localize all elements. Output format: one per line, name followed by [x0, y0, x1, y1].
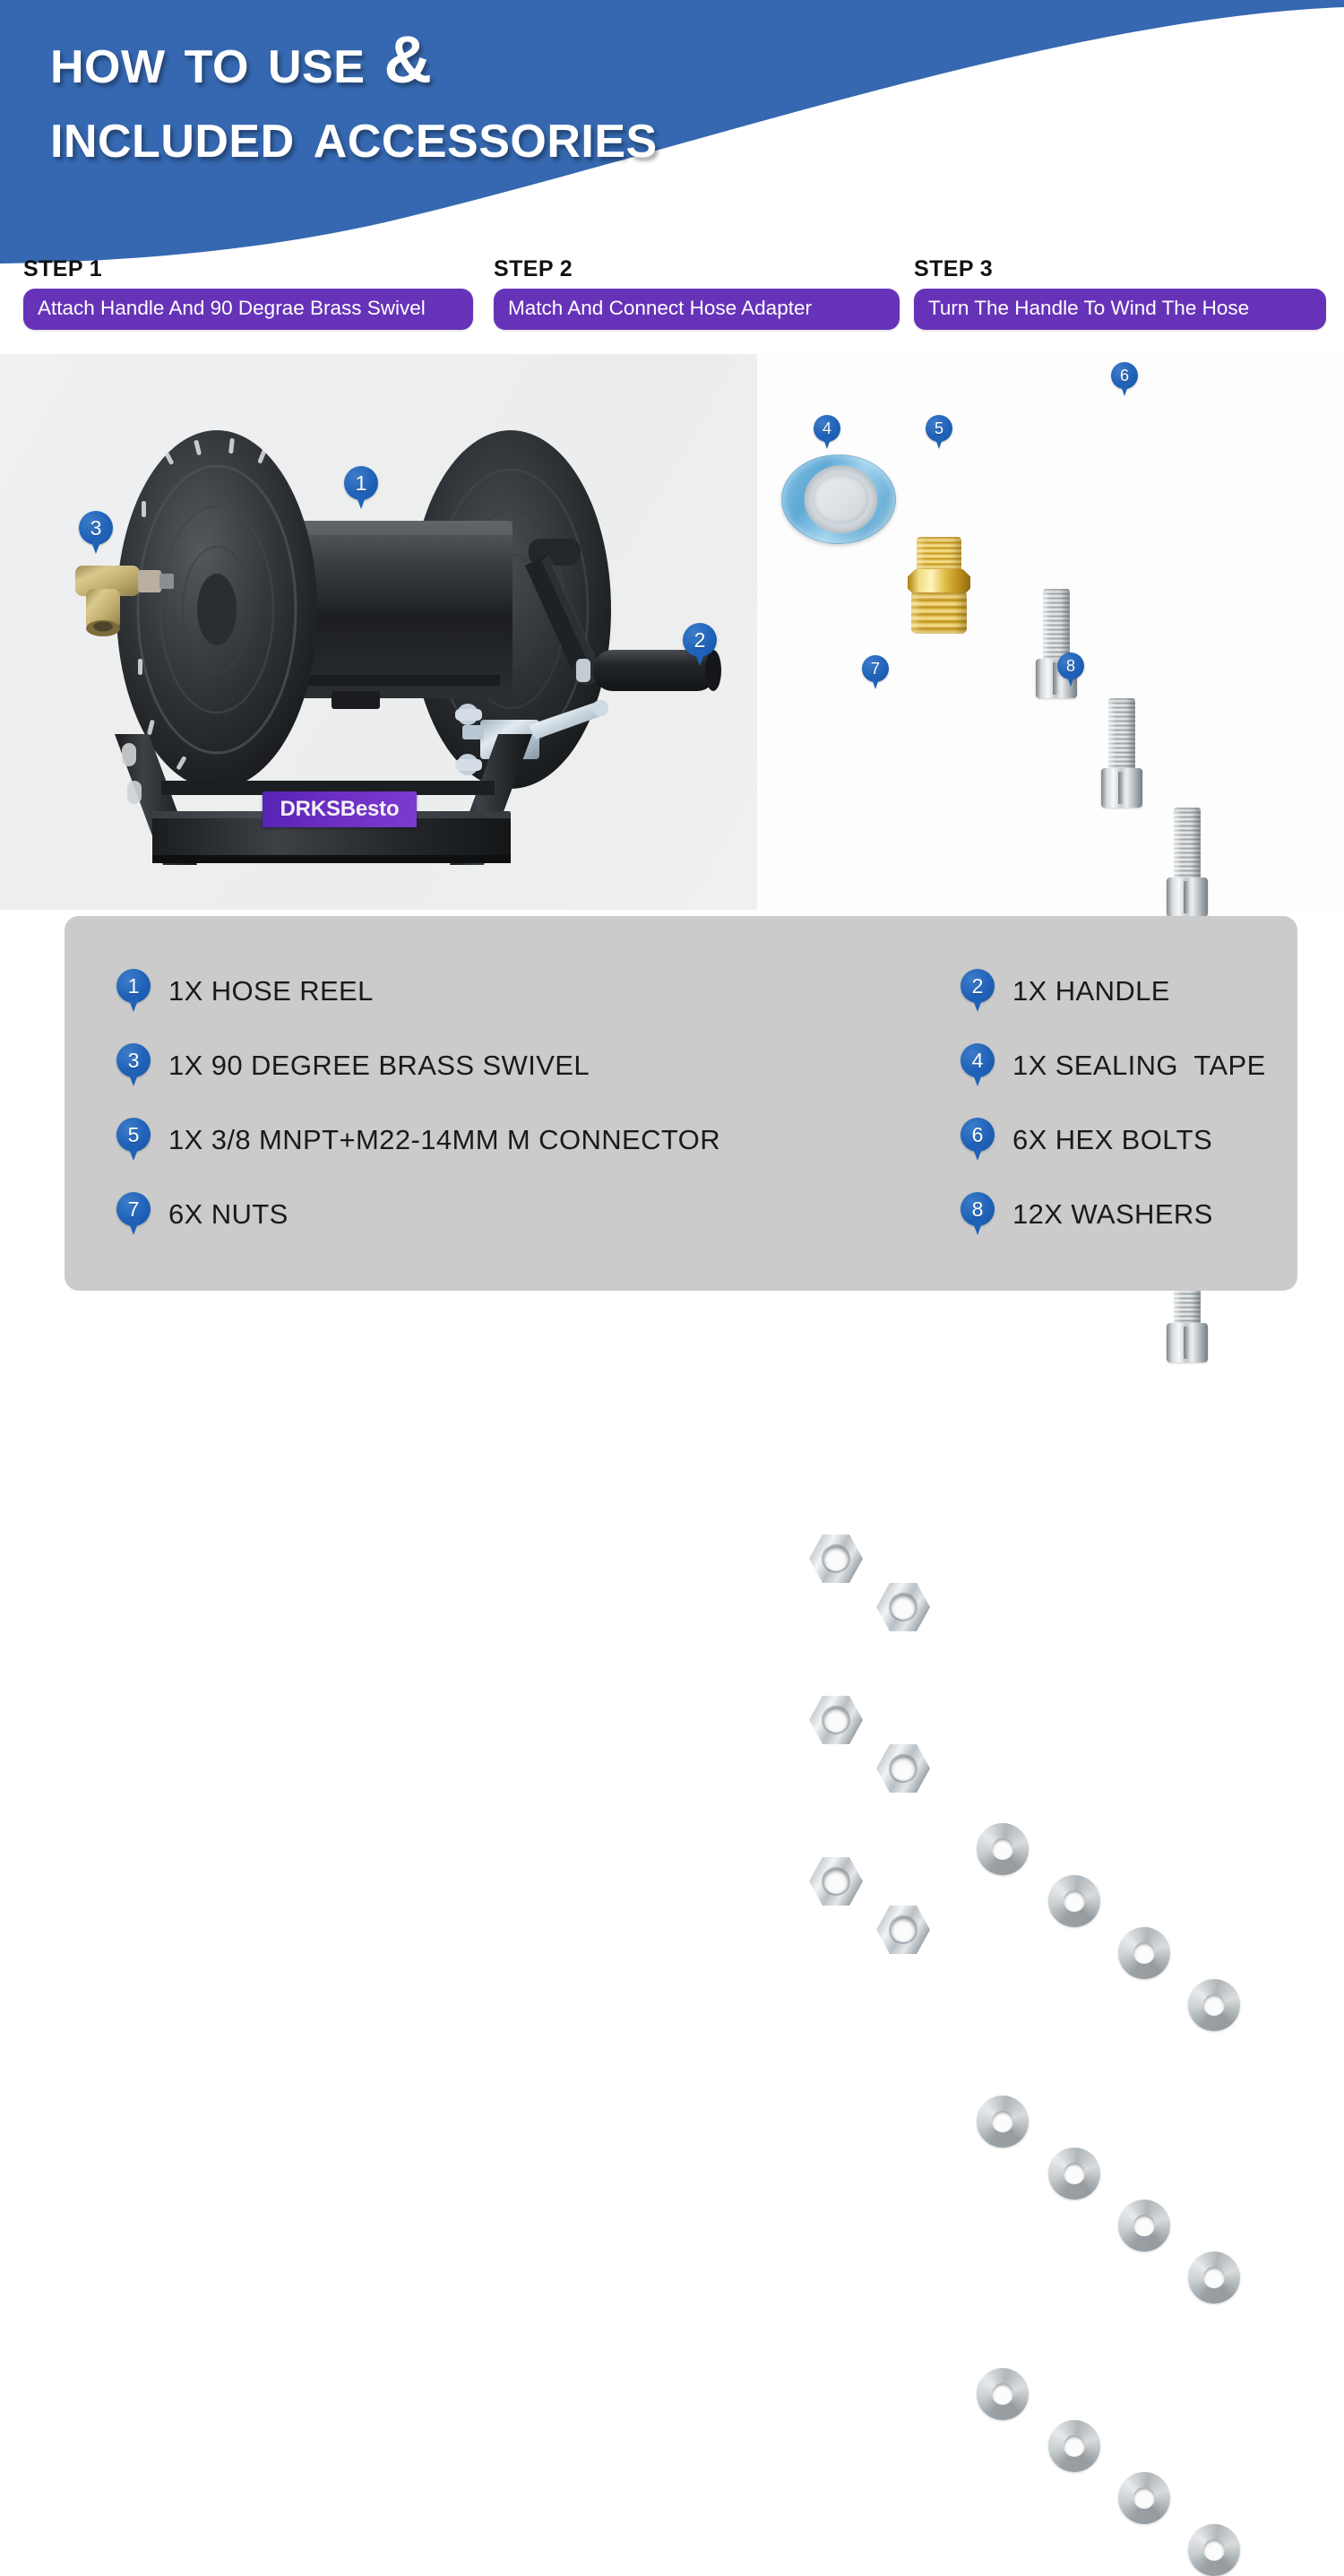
legend-pin-3: 3	[116, 1043, 151, 1088]
legend-pin-2-number: 2	[961, 969, 995, 1003]
step-2-label[interactable]: Match And Connect Hose Adapter	[494, 289, 900, 330]
bolt-shank	[1174, 808, 1201, 881]
legend-pin-4-number: 4	[961, 1043, 995, 1077]
legend-pin-8: 8	[961, 1192, 995, 1237]
legend-pin-1-number: 1	[116, 969, 151, 1003]
legend-item-4-label: 1X SEALING TAPE	[1012, 1050, 1266, 1082]
legend-column-left: 11X HOSE REEL31X 90 DEGREE BRASS SWIVEL5…	[116, 954, 690, 1251]
hose-connector-part	[908, 537, 970, 635]
legend-pin-holder: 8	[961, 1192, 995, 1237]
bolt-shank	[1108, 698, 1135, 772]
hex-bolt	[1166, 808, 1209, 917]
callout-pin-1[interactable]: 1	[344, 466, 378, 511]
brand-plate: DRKSBesto	[263, 791, 417, 827]
page-title: How to Use & Included Accessories	[50, 23, 946, 172]
nut-hole	[891, 1756, 916, 1781]
washers-group	[0, 1489, 1344, 2113]
legend-pin-7-number: 7	[116, 1192, 151, 1226]
legend-item-4: 41X SEALING TAPE	[961, 1028, 1337, 1102]
callout-pin-5-number: 5	[926, 415, 952, 442]
legend-pin-2: 2	[961, 969, 995, 1014]
hex-nut	[809, 1696, 863, 1744]
bolt-head	[1101, 768, 1142, 808]
legend-pin-3-number: 3	[116, 1043, 151, 1077]
step-1-kicker: STEP 1	[23, 256, 473, 282]
step-block-1: STEP 1 Attach Handle And 90 Degrae Brass…	[23, 256, 473, 330]
hex-nut	[876, 1583, 930, 1631]
callout-pin-8-number: 8	[1057, 653, 1084, 679]
washer	[977, 2368, 1029, 2420]
washer	[977, 1823, 1029, 1875]
washer	[1188, 2252, 1240, 2304]
washer	[1118, 1927, 1170, 1979]
washer	[1188, 1979, 1240, 2031]
legend-item-8: 812X WASHERS	[961, 1177, 1337, 1251]
connector-thread-top	[917, 537, 961, 571]
legend-item-2: 21X HANDLE	[961, 954, 1337, 1028]
hex-nut	[876, 1906, 930, 1954]
washer-hole	[992, 1838, 1013, 1860]
legend-item-6-label: 6X HEX BOLTS	[1012, 1124, 1212, 1156]
step-3-kicker: STEP 3	[914, 256, 1326, 282]
callout-pin-5[interactable]: 5	[926, 415, 952, 451]
step-2-kicker: STEP 2	[494, 256, 900, 282]
washer	[977, 2096, 1029, 2148]
legend-pin-8-number: 8	[961, 1192, 995, 1226]
nut-hole	[891, 1917, 916, 1942]
nut-hole	[891, 1595, 916, 1620]
washer-hole	[1064, 2163, 1085, 2184]
page-title-line-2: Included Accessories	[50, 98, 946, 172]
legend-pin-5-number: 5	[116, 1118, 151, 1152]
callout-pin-3-number: 3	[79, 511, 113, 545]
step-block-2: STEP 2 Match And Connect Hose Adapter	[494, 256, 900, 330]
legend-pin-1: 1	[116, 969, 151, 1014]
nut-hole	[823, 1707, 849, 1733]
legend-pin-holder: 5	[116, 1118, 151, 1163]
callout-pin-3[interactable]: 3	[79, 511, 113, 556]
legend-pin-holder: 2	[961, 969, 995, 1014]
washer-hole	[1203, 1994, 1225, 2016]
washer-hole	[992, 2383, 1013, 2405]
hose-reel-image	[63, 363, 771, 901]
product-photo-stage: DRKSBesto 1 2 3	[0, 354, 1344, 910]
legend-item-1: 11X HOSE REEL	[116, 954, 690, 1028]
callout-pin-7[interactable]: 7	[862, 655, 889, 691]
washer	[1118, 2472, 1170, 2524]
nut-hole	[823, 1869, 849, 1894]
legend-pin-holder: 3	[116, 1043, 151, 1088]
bolt-shank	[1043, 589, 1070, 662]
hex-nut	[809, 1534, 863, 1583]
washer	[1048, 2148, 1100, 2200]
callout-pin-1-number: 1	[344, 466, 378, 500]
connector-thread-bottom	[911, 592, 967, 634]
bolt-head	[1167, 877, 1208, 917]
washer-hole	[992, 2111, 1013, 2132]
washer-hole	[1064, 2435, 1085, 2457]
washer	[1048, 1875, 1100, 1927]
callout-pin-4[interactable]: 4	[814, 415, 840, 451]
step-3-label[interactable]: Turn The Handle To Wind The Hose	[914, 289, 1326, 330]
washer	[1048, 2420, 1100, 2472]
callout-pin-4-number: 4	[814, 415, 840, 442]
legend-pin-holder: 1	[116, 969, 151, 1014]
legend-item-8-label: 12X WASHERS	[1012, 1198, 1213, 1231]
legend-column-right: 21X HANDLE41X SEALING TAPE66X HEX BOLTS8…	[961, 954, 1337, 1251]
step-block-3: STEP 3 Turn The Handle To Wind The Hose	[914, 256, 1326, 330]
page-title-line-1: How to Use &	[50, 22, 432, 97]
callout-pin-7-number: 7	[862, 655, 889, 682]
legend-pin-holder: 7	[116, 1192, 151, 1237]
washer-hole	[1133, 2215, 1155, 2236]
washer	[1188, 2524, 1240, 2576]
legend-item-5: 51X 3/8 MNPT+M22-14MM M CONNECTOR	[116, 1102, 690, 1177]
legend-pin-holder: 4	[961, 1043, 995, 1088]
callout-pin-8[interactable]: 8	[1057, 653, 1084, 688]
legend-item-5-label: 1X 3/8 MNPT+M22-14MM M CONNECTOR	[168, 1124, 720, 1156]
legend-pin-6: 6	[961, 1118, 995, 1163]
legend-item-6: 66X HEX BOLTS	[961, 1102, 1337, 1177]
bolt-head	[1167, 1323, 1208, 1362]
washer-hole	[1203, 2539, 1225, 2561]
hex-nut	[876, 1744, 930, 1793]
washer-hole	[1133, 1942, 1155, 1964]
legend-item-7-label: 6X NUTS	[168, 1198, 289, 1231]
callout-pin-2[interactable]: 2	[683, 623, 717, 668]
legend-item-3-label: 1X 90 DEGREE BRASS SWIVEL	[168, 1050, 590, 1082]
legend-pin-7: 7	[116, 1192, 151, 1237]
callout-pin-6-number: 6	[1111, 362, 1138, 389]
washer	[1118, 2200, 1170, 2252]
brand-name: DRKSBesto	[280, 797, 400, 822]
steps-row: STEP 1 Attach Handle And 90 Degrae Brass…	[0, 256, 1344, 346]
legend-pin-holder: 6	[961, 1118, 995, 1163]
washer-hole	[1133, 2487, 1155, 2509]
legend-item-1-label: 1X HOSE REEL	[168, 975, 374, 1007]
legend-item-7: 76X NUTS	[116, 1177, 690, 1251]
washer-hole	[1064, 1890, 1085, 1912]
hex-nut	[809, 1857, 863, 1906]
legend-item-3: 31X 90 DEGREE BRASS SWIVEL	[116, 1028, 690, 1102]
legend-pin-5: 5	[116, 1118, 151, 1163]
legend-pin-6-number: 6	[961, 1118, 995, 1152]
hex-bolt	[1100, 698, 1143, 808]
infographic-page: How to Use & Included Accessories STEP 1…	[0, 0, 1344, 1333]
washer-hole	[1203, 2267, 1225, 2288]
sealing-tape-part	[781, 454, 896, 544]
step-1-label[interactable]: Attach Handle And 90 Degrae Brass Swivel	[23, 289, 473, 330]
accessories-legend-panel: 11X HOSE REEL31X 90 DEGREE BRASS SWIVEL5…	[65, 916, 1297, 1291]
legend-item-2-label: 1X HANDLE	[1012, 975, 1170, 1007]
legend-pin-4: 4	[961, 1043, 995, 1088]
nut-hole	[823, 1546, 849, 1571]
callout-pin-6[interactable]: 6	[1111, 362, 1138, 398]
callout-pin-2-number: 2	[683, 623, 717, 657]
